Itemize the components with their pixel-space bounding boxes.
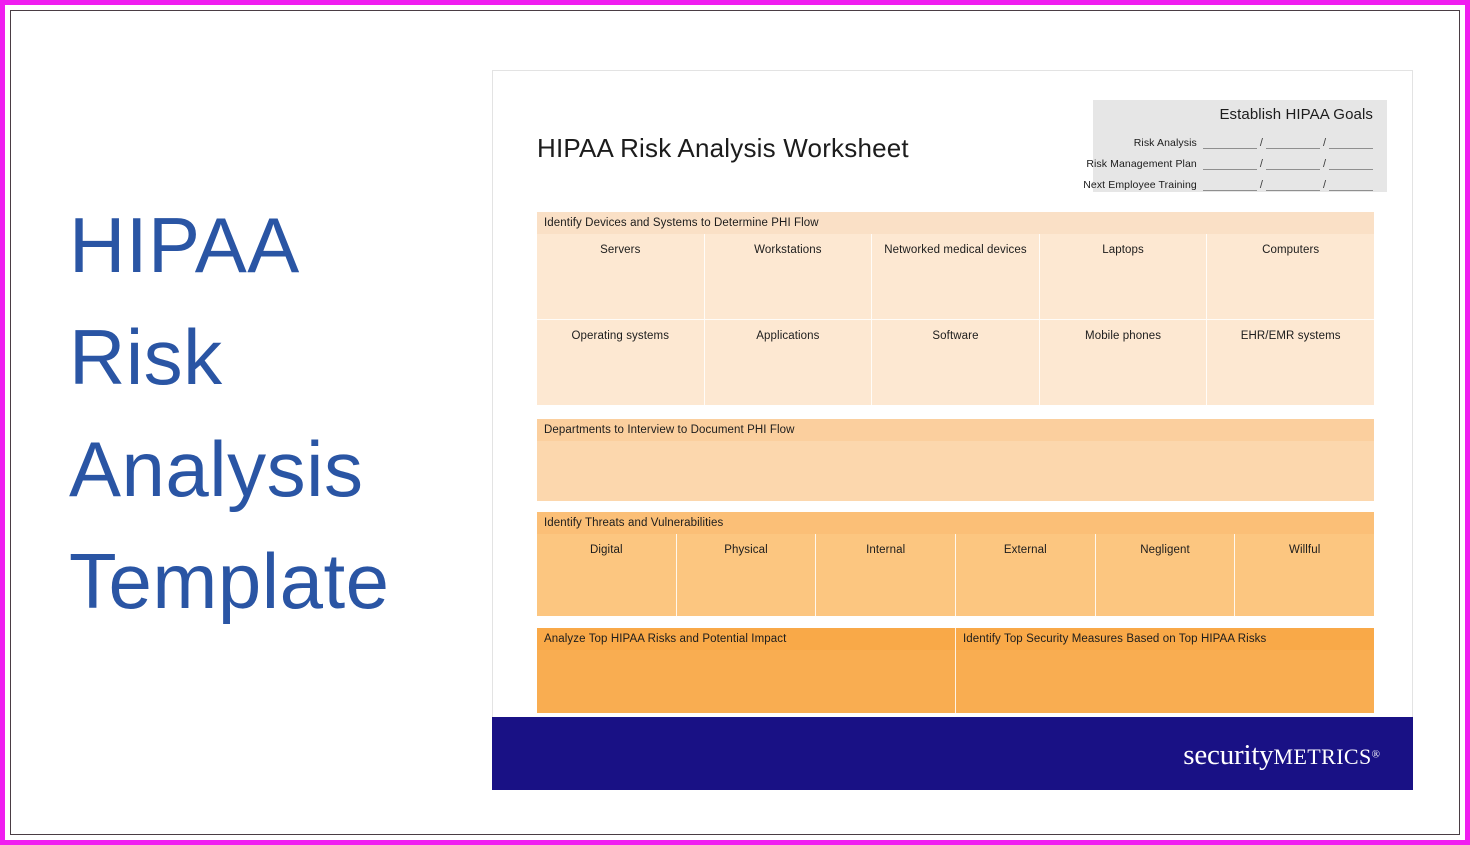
goal-separator-2: / <box>1320 179 1329 191</box>
registered-trademark-icon: ® <box>1372 749 1380 761</box>
section-identify-threats: Identify Threats and Vulnerabilities Dig… <box>537 512 1374 616</box>
table-cell[interactable]: External <box>955 534 1095 616</box>
goal-year-blank[interactable] <box>1329 178 1373 191</box>
table-cell[interactable]: Internal <box>815 534 955 616</box>
table-cell[interactable]: EHR/EMR systems <box>1206 320 1374 405</box>
page-title-line-2: Risk <box>69 301 489 413</box>
goal-row-risk-analysis: Risk Analysis / / <box>1103 128 1373 149</box>
table-cell-blank[interactable] <box>955 650 1374 713</box>
securitymetrics-logo: securityMETRICS® <box>1183 739 1380 772</box>
table-cell[interactable]: Computers <box>1206 234 1374 319</box>
table-row <box>537 650 1374 713</box>
page-title-line-3: Analysis <box>69 413 489 525</box>
slide-frame: HIPAA Risk Analysis Template HIPAA Risk … <box>0 0 1470 845</box>
table-cell[interactable]: Physical <box>676 534 816 616</box>
section-heading-analyze-top-risks: Analyze Top HIPAA Risks and Potential Im… <box>537 628 955 650</box>
goal-label-next-employee-training: Next Employee Training <box>1083 179 1203 191</box>
logo-text-security: security <box>1183 739 1273 771</box>
goal-year-blank[interactable] <box>1329 136 1373 149</box>
section-departments-to-interview: Departments to Interview to Document PHI… <box>537 419 1374 501</box>
goal-row-next-employee-training: Next Employee Training / / <box>1103 170 1373 191</box>
goal-separator-1: / <box>1257 158 1266 170</box>
section-heading-identify-threats: Identify Threats and Vulnerabilities <box>537 512 1374 534</box>
table-cell-blank[interactable] <box>537 650 955 713</box>
goal-label-risk-analysis: Risk Analysis <box>1134 137 1203 149</box>
table-cell[interactable]: Negligent <box>1095 534 1235 616</box>
goal-separator-1: / <box>1257 137 1266 149</box>
table-cell[interactable]: Networked medical devices <box>871 234 1039 319</box>
goal-month-blank[interactable] <box>1203 157 1257 170</box>
worksheet-card: HIPAA Risk Analysis Worksheet Establish … <box>492 70 1413 790</box>
logo-text-metrics: METRICS <box>1273 744 1371 769</box>
table-row: Operating systems Applications Software … <box>537 319 1374 405</box>
table-cell[interactable]: Operating systems <box>537 320 704 405</box>
goal-separator-2: / <box>1320 158 1329 170</box>
goal-day-blank[interactable] <box>1266 178 1320 191</box>
table-cell[interactable]: Applications <box>704 320 872 405</box>
page-title: HIPAA Risk Analysis Template <box>69 189 489 637</box>
table-cell[interactable]: Software <box>871 320 1039 405</box>
section-heading-row: Analyze Top HIPAA Risks and Potential Im… <box>537 628 1374 650</box>
goal-separator-1: / <box>1257 179 1266 191</box>
goals-heading: Establish HIPAA Goals <box>1103 106 1373 123</box>
goal-day-blank[interactable] <box>1266 157 1320 170</box>
section-heading-identify-devices: Identify Devices and Systems to Determin… <box>537 212 1374 234</box>
table-row: Digital Physical Internal External Negli… <box>537 534 1374 616</box>
table-cell[interactable]: Willful <box>1234 534 1374 616</box>
section-analyze-risks: Analyze Top HIPAA Risks and Potential Im… <box>537 628 1374 713</box>
page-title-line-1: HIPAA <box>69 189 489 301</box>
section-identify-devices: Identify Devices and Systems to Determin… <box>537 212 1374 405</box>
page-title-line-4: Template <box>69 525 489 637</box>
goal-day-blank[interactable] <box>1266 136 1320 149</box>
slide-inner-frame: HIPAA Risk Analysis Template HIPAA Risk … <box>10 10 1460 835</box>
goal-date-fields-risk-management-plan[interactable]: / / <box>1203 157 1373 170</box>
table-cell[interactable]: Laptops <box>1039 234 1207 319</box>
table-row <box>537 441 1374 501</box>
goal-month-blank[interactable] <box>1203 178 1257 191</box>
table-cell[interactable]: Mobile phones <box>1039 320 1207 405</box>
goal-separator-2: / <box>1320 137 1329 149</box>
section-heading-identify-security-measures: Identify Top Security Measures Based on … <box>955 628 1374 650</box>
footer-band: securityMETRICS® <box>492 717 1413 790</box>
table-cell[interactable]: Servers <box>537 234 704 319</box>
goal-month-blank[interactable] <box>1203 136 1257 149</box>
goal-label-risk-management-plan: Risk Management Plan <box>1086 158 1203 170</box>
section-heading-departments-to-interview: Departments to Interview to Document PHI… <box>537 419 1374 441</box>
goal-row-risk-management-plan: Risk Management Plan / / <box>1103 149 1373 170</box>
table-cell[interactable]: Workstations <box>704 234 872 319</box>
worksheet-title: HIPAA Risk Analysis Worksheet <box>537 133 909 164</box>
goal-date-fields-risk-analysis[interactable]: / / <box>1203 136 1373 149</box>
worksheet-header: HIPAA Risk Analysis Worksheet Establish … <box>493 71 1412 204</box>
table-row: Servers Workstations Networked medical d… <box>537 234 1374 319</box>
establish-hipaa-goals-box: Establish HIPAA Goals Risk Analysis / / … <box>1093 100 1387 192</box>
table-cell[interactable]: Digital <box>537 534 676 616</box>
goal-year-blank[interactable] <box>1329 157 1373 170</box>
table-cell-blank[interactable] <box>537 441 1374 501</box>
goal-date-fields-next-employee-training[interactable]: / / <box>1203 178 1373 191</box>
